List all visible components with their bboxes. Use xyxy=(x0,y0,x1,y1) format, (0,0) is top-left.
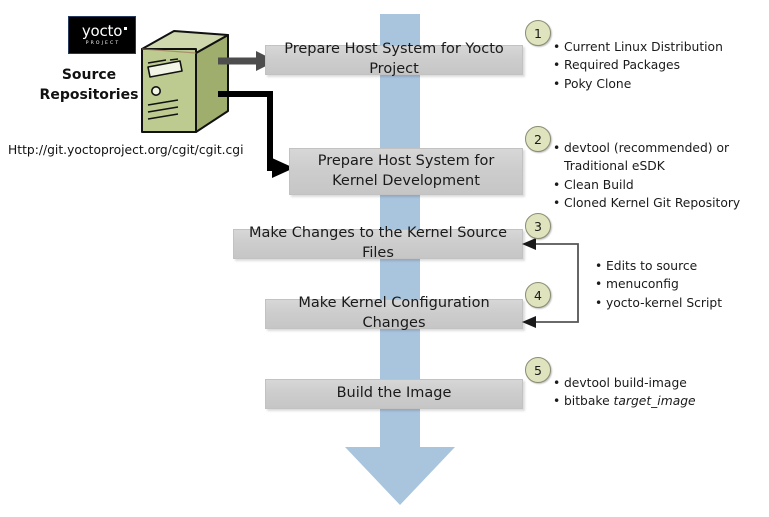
notes-step5-item: bitbake target_image xyxy=(564,392,750,410)
logo-subtitle: PROJECT xyxy=(86,41,121,46)
logo-wordmark: yocto xyxy=(82,24,122,39)
notes-steps-3-4-item: menuconfig xyxy=(606,275,762,293)
source-label-line1: Source xyxy=(34,65,144,85)
notes-step5: devtool build-image bitbake target_image xyxy=(550,374,750,411)
process-box-step4[interactable]: Make Kernel Configuration Changes xyxy=(265,299,523,329)
step-number-circle-4: 4 xyxy=(525,282,551,308)
notes-step5-cmd: bitbake xyxy=(564,394,614,408)
process-box-step1[interactable]: Prepare Host System for Yocto Project xyxy=(265,45,523,75)
process-box-step1-label: Prepare Host System for Yocto Project xyxy=(276,40,512,79)
process-box-step2[interactable]: Prepare Host System for Kernel Developme… xyxy=(289,148,523,195)
logo-dot-icon xyxy=(124,27,127,30)
connector-server-to-step2 xyxy=(218,90,296,182)
diagram-canvas: yocto PROJECT Source Repositories Http:/… xyxy=(0,0,769,517)
main-flow-arrow-head xyxy=(345,447,455,505)
notes-steps-3-4-item: yocto-kernel Script xyxy=(606,294,762,312)
notes-step2-item: Clean Build xyxy=(564,176,765,194)
notes-step5-arg: target_image xyxy=(614,394,696,408)
notes-step1-item: Poky Clone xyxy=(564,75,760,93)
process-box-step4-label: Make Kernel Configuration Changes xyxy=(276,294,512,333)
notes-step2-item: Cloned Kernel Git Repository xyxy=(564,194,765,212)
source-repositories-label: Source Repositories xyxy=(34,65,144,106)
notes-step5-item: devtool build-image xyxy=(564,374,750,392)
process-box-step5-label: Build the Image xyxy=(337,384,452,404)
yocto-project-logo: yocto PROJECT xyxy=(68,16,136,54)
notes-step2-item: devtool (recommended) or Traditional eSD… xyxy=(564,139,765,176)
step-number-circle-3: 3 xyxy=(525,213,551,239)
process-box-step2-label: Prepare Host System for Kernel Developme… xyxy=(300,152,512,191)
notes-step1: Current Linux Distribution Required Pack… xyxy=(550,38,760,93)
notes-step2: devtool (recommended) or Traditional eSD… xyxy=(550,139,765,213)
step-number-circle-1: 1 xyxy=(525,20,551,46)
process-box-step5[interactable]: Build the Image xyxy=(265,379,523,409)
notes-step1-item: Required Packages xyxy=(564,56,760,74)
step-number-circle-2: 2 xyxy=(525,126,551,152)
process-box-step3-label: Make Changes to the Kernel Source Files xyxy=(244,224,512,263)
process-box-step3[interactable]: Make Changes to the Kernel Source Files xyxy=(233,229,523,259)
source-label-line2: Repositories xyxy=(34,85,144,105)
notes-steps-3-4-item: Edits to source xyxy=(606,257,762,275)
notes-steps-3-4: Edits to source menuconfig yocto-kernel … xyxy=(592,257,762,312)
step-number-circle-5: 5 xyxy=(525,357,551,383)
notes-step1-item: Current Linux Distribution xyxy=(564,38,760,56)
